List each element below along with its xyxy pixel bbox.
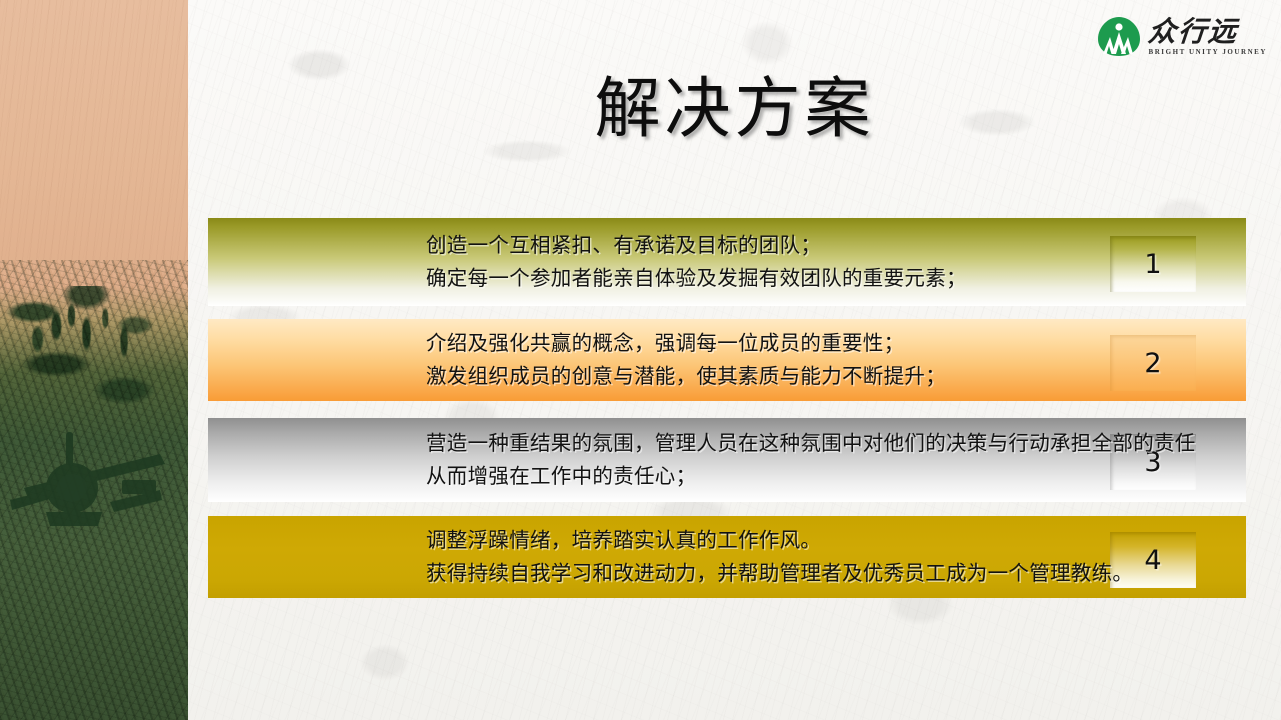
logo-text-block: 众行远 BRIGHT UNITY JOURNEY	[1148, 18, 1267, 56]
company-logo: 众行远 BRIGHT UNITY JOURNEY	[1097, 16, 1267, 58]
content-row-1[interactable]: 创造一个互相紧扣、有承诺及目标的团队； 确定每一个参加者能亲自体验及发掘有效团队…	[208, 218, 1246, 306]
row-3-text: 营造一种重结果的氛围，管理人员在这种氛围中对他们的决策与行动承担全部的责任 从而…	[426, 427, 1196, 493]
presentation-slide: 众行远 BRIGHT UNITY JOURNEY 解决方案 创造一个互相紧扣、有…	[0, 0, 1281, 720]
row-1-number-badge: 1	[1110, 236, 1196, 292]
content-row-4[interactable]: 调整浮躁情绪，培养踏实认真的工作作风。 获得持续自我学习和改进动力，并帮助管理者…	[208, 516, 1246, 598]
row-1-text: 创造一个互相紧扣、有承诺及目标的团队； 确定每一个参加者能亲自体验及发掘有效团队…	[426, 229, 967, 295]
row-2-number-badge: 2	[1110, 335, 1196, 391]
slide-title: 解决方案	[188, 76, 1281, 142]
content-row-3[interactable]: 营造一种重结果的氛围，管理人员在这种氛围中对他们的决策与行动承担全部的责任 从而…	[208, 418, 1246, 502]
mountain-people-logo-icon	[1097, 16, 1141, 58]
row-2-text: 介绍及强化共赢的概念，强调每一位成员的重要性； 激发组织成员的创意与潜能，使其素…	[426, 327, 946, 393]
logo-chinese-name: 众行远	[1147, 18, 1268, 46]
logo-english-tagline: BRIGHT UNITY JOURNEY	[1148, 49, 1267, 56]
content-row-2[interactable]: 介绍及强化共赢的概念，强调每一位成员的重要性； 激发组织成员的创意与潜能，使其素…	[208, 319, 1246, 401]
row-4-text: 调整浮躁情绪，培养踏实认真的工作作风。 获得持续自我学习和改进动力，并帮助管理者…	[426, 524, 1133, 590]
